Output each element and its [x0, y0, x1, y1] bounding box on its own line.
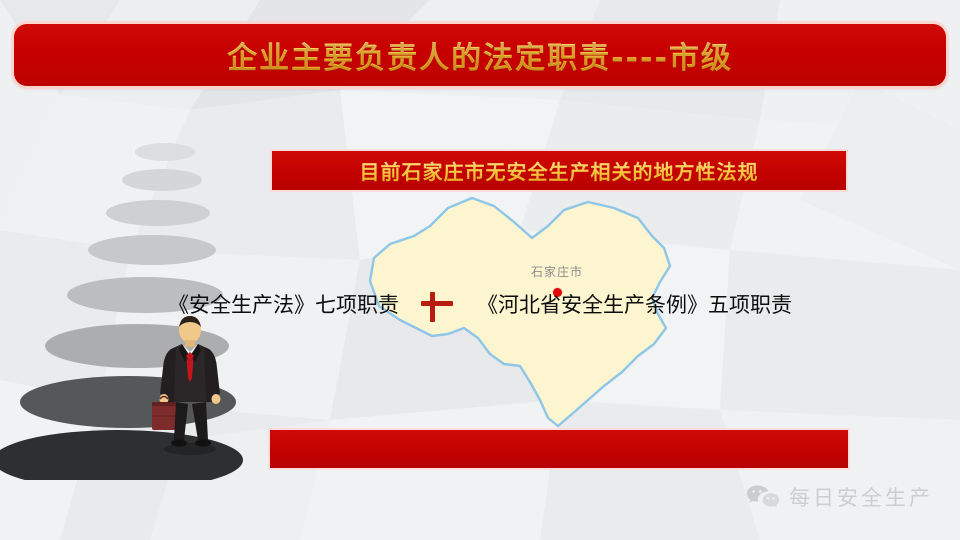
bottom-red-bar [270, 430, 848, 468]
watermark-text: 每日安全生产 [789, 482, 933, 512]
map-shijiazhuang [352, 186, 692, 436]
subtitle-text: 目前石家庄市无安全生产相关的地方性法规 [360, 156, 759, 185]
map-city-label: 石家庄市 [531, 263, 583, 280]
location-dot-icon [553, 288, 562, 297]
wechat-icon [746, 484, 780, 510]
title-banner: 企业主要负责人的法定职责----市级 [14, 24, 946, 86]
slide-canvas: 企业主要负责人的法定职责----市级 目前石家庄市无安全生产相关的地方性法规 石… [0, 0, 960, 540]
subtitle-banner: 目前石家庄市无安全生产相关的地方性法规 [272, 151, 846, 190]
watermark: 每日安全生产 [746, 482, 933, 512]
page-title: 企业主要负责人的法定职责----市级 [227, 33, 733, 77]
businessman-figure [138, 316, 242, 456]
